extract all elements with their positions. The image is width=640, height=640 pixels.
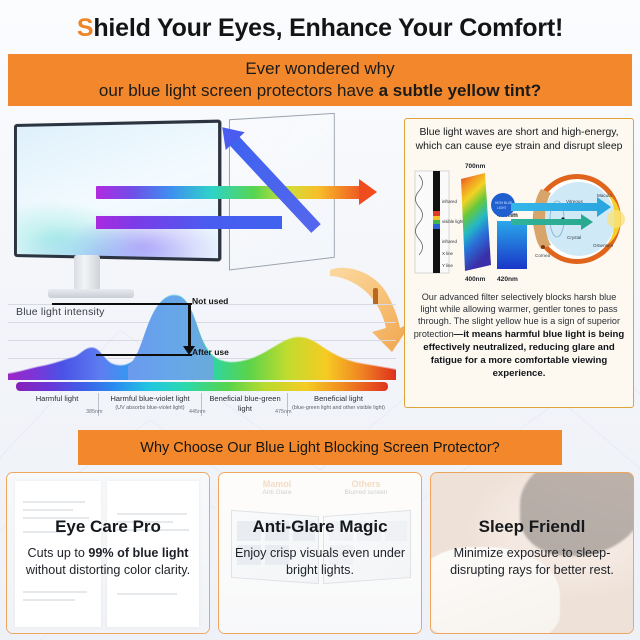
monitor-stand bbox=[74, 255, 100, 291]
boundary-nm-1: 445nm bbox=[189, 409, 205, 415]
card-body-c: without distorting color clarity. bbox=[26, 563, 190, 577]
card-body-a: Enjoy crisp visuals even under bright li… bbox=[235, 546, 405, 577]
feature-card-title: Anti-Glare Magic bbox=[219, 517, 421, 537]
svg-text:Cornea: Cornea bbox=[535, 253, 551, 258]
page-title-initial: S bbox=[77, 14, 93, 43]
monitor-wallpaper bbox=[14, 166, 221, 262]
segment-sublabel-1: (UV absorbs blue-violet light) bbox=[100, 404, 200, 412]
feature-card-eye-care[interactable]: Eye Care Pro Cuts up to 99% of blue ligh… bbox=[6, 472, 210, 634]
info-panel-body: Our advanced filter selectively blocks h… bbox=[413, 291, 625, 380]
page-title: Shield Your Eyes, Enhance Your Comfort! bbox=[0, 6, 640, 50]
feature-card-title: Sleep Friendl bbox=[431, 517, 633, 537]
card-body-b: 99% of blue light bbox=[88, 546, 188, 560]
info-panel-title: Blue light waves are short and high-ener… bbox=[413, 126, 625, 154]
subtitle-line-2-plain: our blue light screen protectors have bbox=[99, 81, 379, 100]
feature-card-body: Minimize exposure to sleep-disrupting ra… bbox=[439, 545, 625, 579]
segment-label-1: Harmful blue-violet light bbox=[100, 394, 200, 404]
illustration-zone: Blue light intensity bbox=[0, 112, 640, 420]
drop-arrow-shaft bbox=[188, 303, 191, 350]
label-700nm: 700nm bbox=[465, 163, 486, 170]
svg-text:X line: X line bbox=[442, 251, 454, 256]
segment-label-0: Harmful light bbox=[16, 394, 98, 404]
segment-label-3: Beneficial light bbox=[289, 394, 388, 404]
card-body-a: Cuts up to bbox=[28, 546, 89, 560]
subtitle-line-2: our blue light screen protectors have a … bbox=[99, 80, 541, 102]
eye-anatomy-figure: infrared visible light infrared X line Y… bbox=[411, 159, 629, 285]
poster-root: Shield Your Eyes, Enhance Your Comfort! … bbox=[0, 0, 640, 640]
label-420nm: 420nm bbox=[497, 276, 518, 283]
svg-text:LIGHT: LIGHT bbox=[497, 206, 506, 210]
svg-text:Omentum: Omentum bbox=[593, 243, 613, 248]
svg-text:visible light: visible light bbox=[442, 219, 464, 224]
info-panel-body-emphasis: —it means harmful blue light is being ef… bbox=[423, 329, 624, 380]
after-use-leader-line bbox=[96, 354, 192, 356]
annotation-not-used: Not used bbox=[192, 296, 228, 306]
svg-text:infrared: infrared bbox=[442, 239, 457, 244]
visible-spectrum-bar bbox=[16, 382, 388, 391]
boundary-nm-2: 475nm bbox=[275, 409, 291, 415]
svg-text:HIGH BLUE: HIGH BLUE bbox=[495, 201, 512, 205]
not-used-leader-line bbox=[52, 303, 192, 305]
label-400nm: 400nm bbox=[465, 276, 486, 283]
why-choose-label: Why Choose Our Blue Light Blocking Scree… bbox=[140, 440, 499, 456]
subtitle-line-1: Ever wondered why bbox=[245, 58, 394, 80]
why-choose-band: Why Choose Our Blue Light Blocking Scree… bbox=[78, 430, 562, 465]
spectrum-segments: Harmful light Harmful blue-violet light … bbox=[16, 393, 388, 416]
annotation-after-use: After use bbox=[192, 347, 229, 357]
full-spectrum-beam bbox=[96, 186, 360, 199]
blue-light-intensity-chart: Blue light intensity bbox=[8, 290, 396, 416]
feature-card-body: Enjoy crisp visuals even under bright li… bbox=[227, 545, 413, 579]
card-body-a: Minimize exposure to sleep-disrupting ra… bbox=[450, 546, 614, 577]
feature-cards: Eye Care Pro Cuts up to 99% of blue ligh… bbox=[6, 472, 634, 634]
svg-text:Crystal: Crystal bbox=[567, 235, 581, 240]
segment-sublabel-3: (blue-green light and other visible ligh… bbox=[289, 404, 388, 412]
feature-card-title: Eye Care Pro bbox=[7, 517, 209, 537]
svg-text:Y line: Y line bbox=[442, 263, 453, 268]
feature-card-body: Cuts up to 99% of blue light without dis… bbox=[15, 545, 201, 579]
page-title-rest: hield Your Eyes, Enhance Your Comfort! bbox=[93, 14, 563, 43]
blue-light-beam bbox=[96, 216, 282, 229]
svg-text:Macula: Macula bbox=[597, 193, 612, 198]
subtitle-line-2-emphasis: a subtle yellow tint? bbox=[379, 81, 541, 100]
feature-card-anti-glare[interactable]: Mamol Anti Glare Others Blurred screen bbox=[218, 472, 422, 634]
boundary-nm-0: 385nm bbox=[86, 409, 102, 415]
feature-card-sleep-friendly[interactable]: Sleep Friendl Minimize exposure to sleep… bbox=[430, 472, 634, 634]
beam-arrow-tip-icon bbox=[359, 179, 377, 205]
subtitle-band: Ever wondered why our blue light screen … bbox=[8, 54, 632, 106]
info-panel: Blue light waves are short and high-ener… bbox=[404, 118, 634, 408]
svg-text:infrared: infrared bbox=[442, 199, 457, 204]
